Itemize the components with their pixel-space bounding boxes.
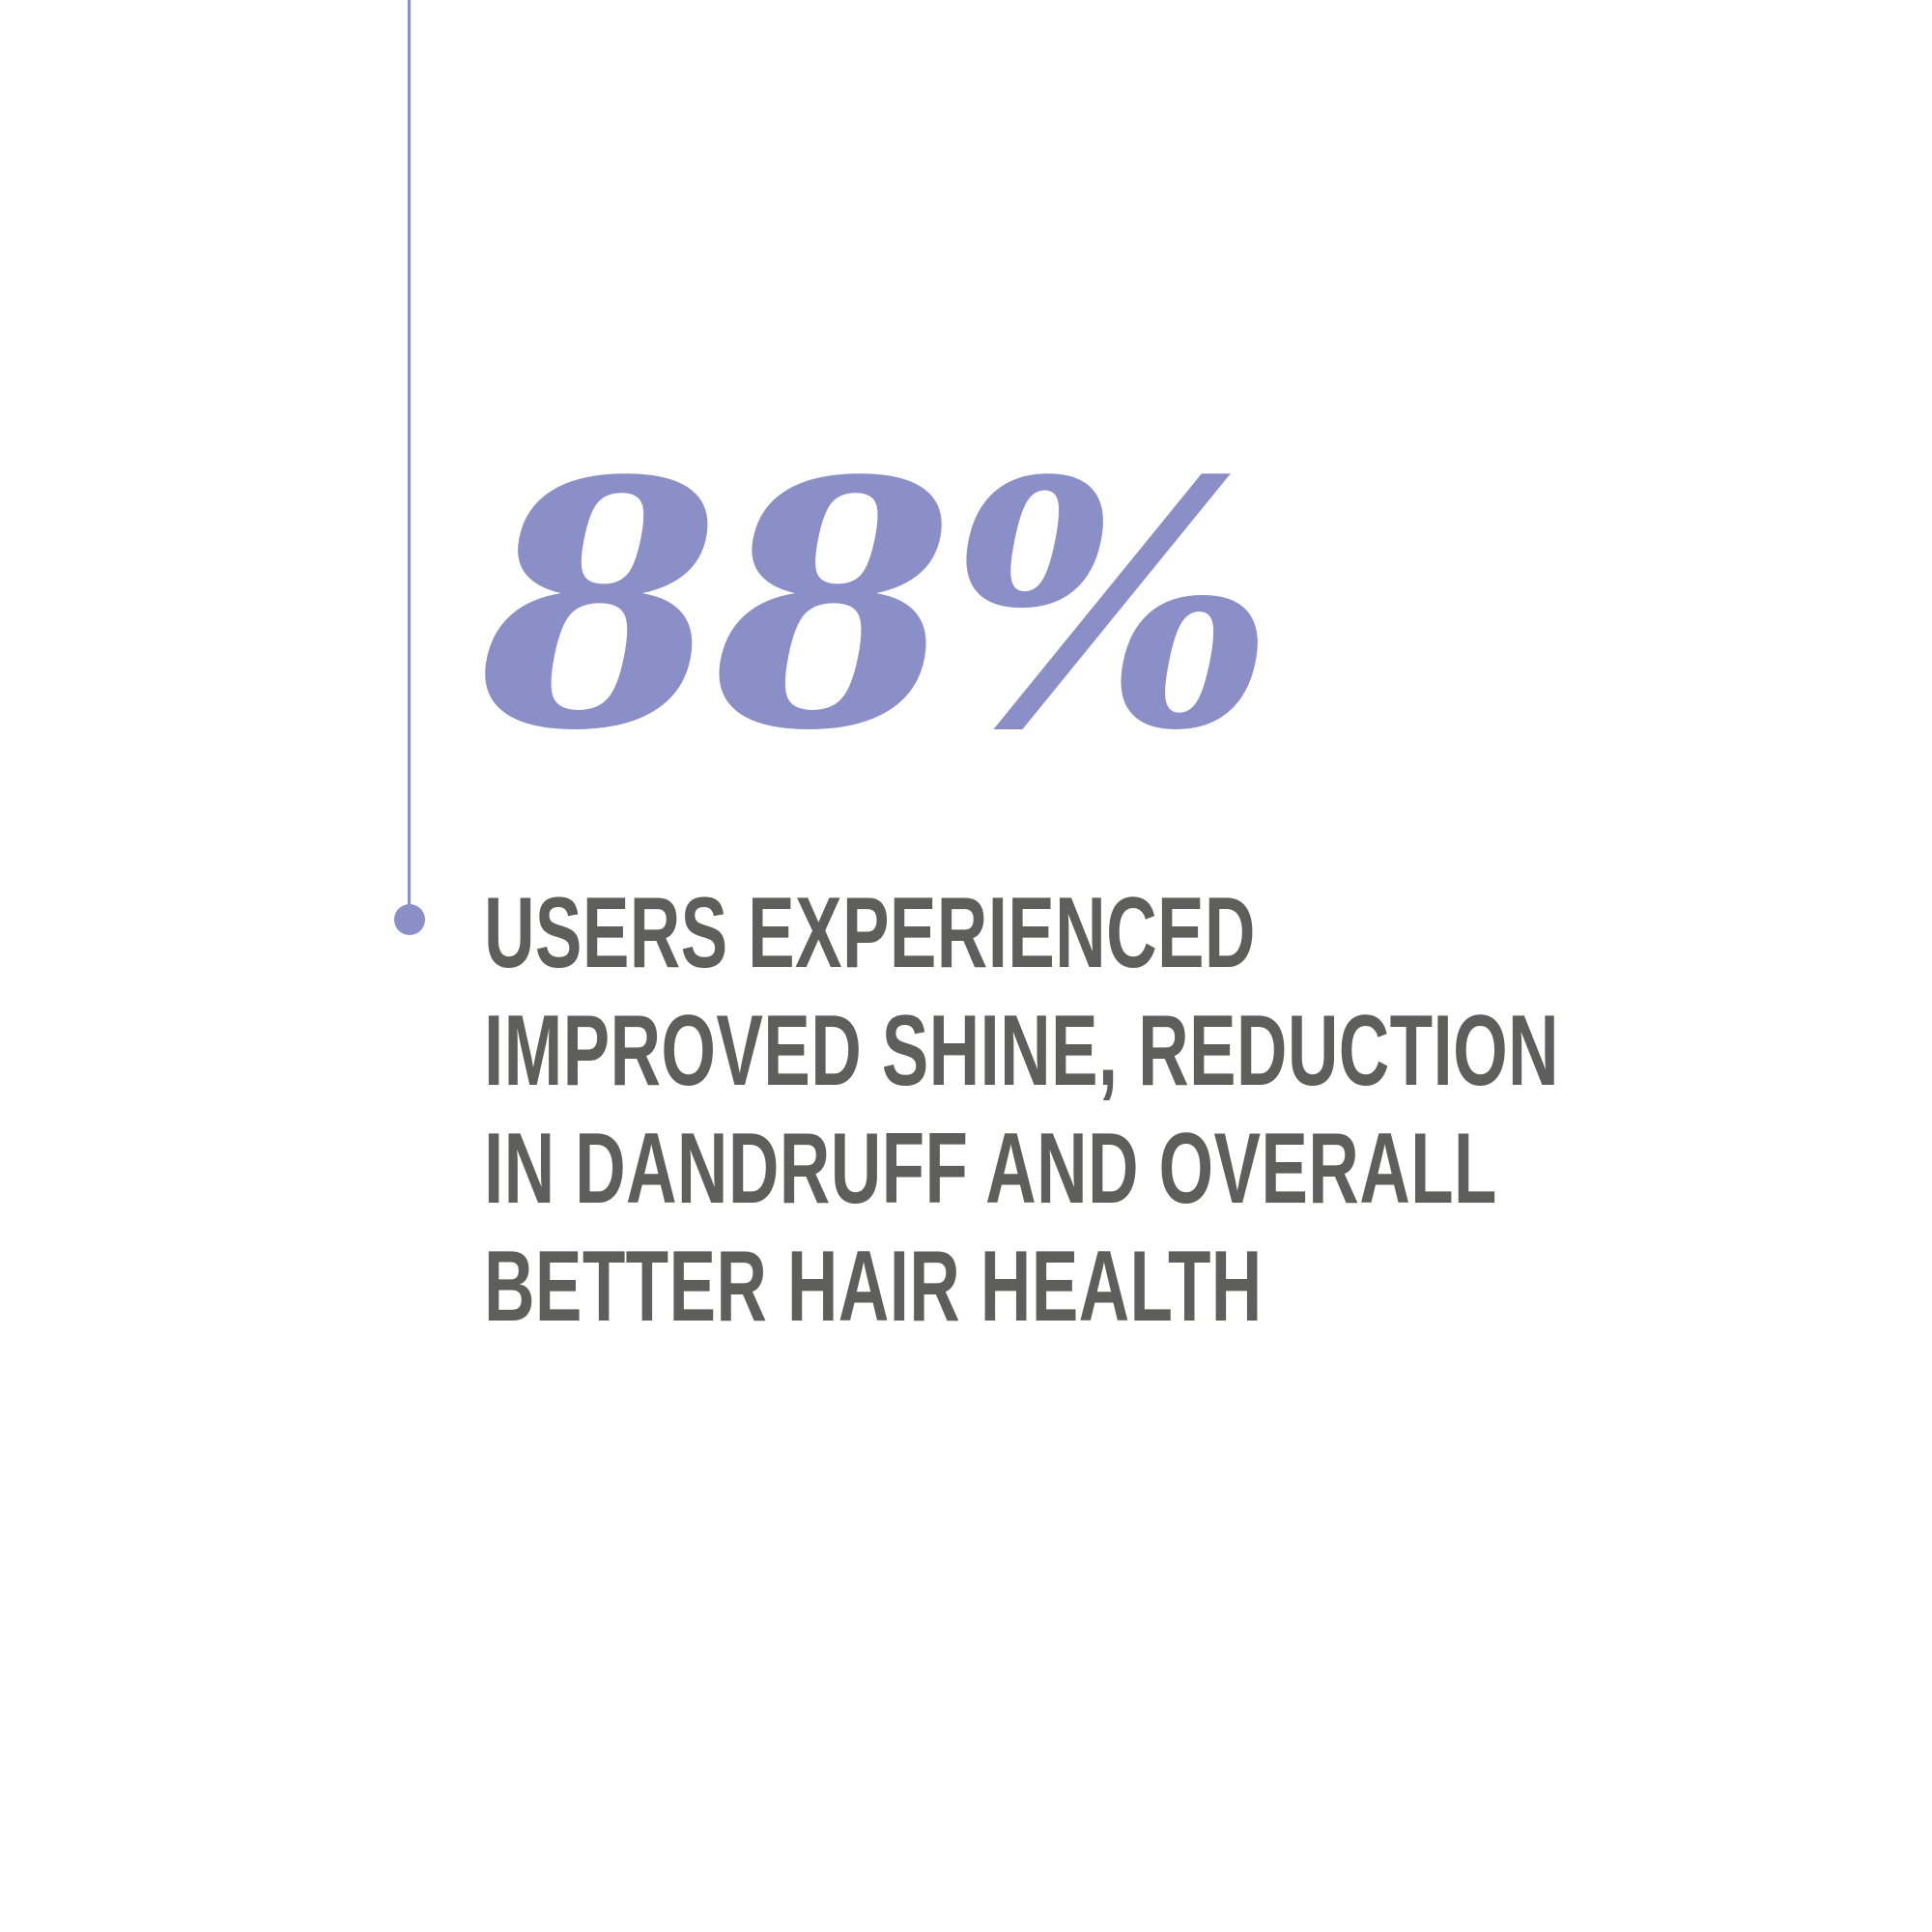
stat-description-line: IN DANDRUFF AND OVERALL	[484, 1110, 1201, 1228]
connector-dot-icon	[394, 904, 425, 935]
stat-description-line: USERS EXPERIENCED	[484, 874, 1201, 992]
stat-description: USERS EXPERIENCED IMPROVED SHINE, REDUCT…	[484, 874, 1508, 1346]
connector-line-decoration	[408, 0, 411, 920]
stat-highlight-card: 88% USERS EXPERIENCED IMPROVED SHINE, RE…	[0, 0, 1932, 1932]
stat-description-line: BETTER HAIR HEALTH	[484, 1228, 1201, 1346]
stat-description-line: IMPROVED SHINE, REDUCTION	[484, 992, 1201, 1110]
stat-percentage-figure: 88%	[480, 437, 1270, 775]
